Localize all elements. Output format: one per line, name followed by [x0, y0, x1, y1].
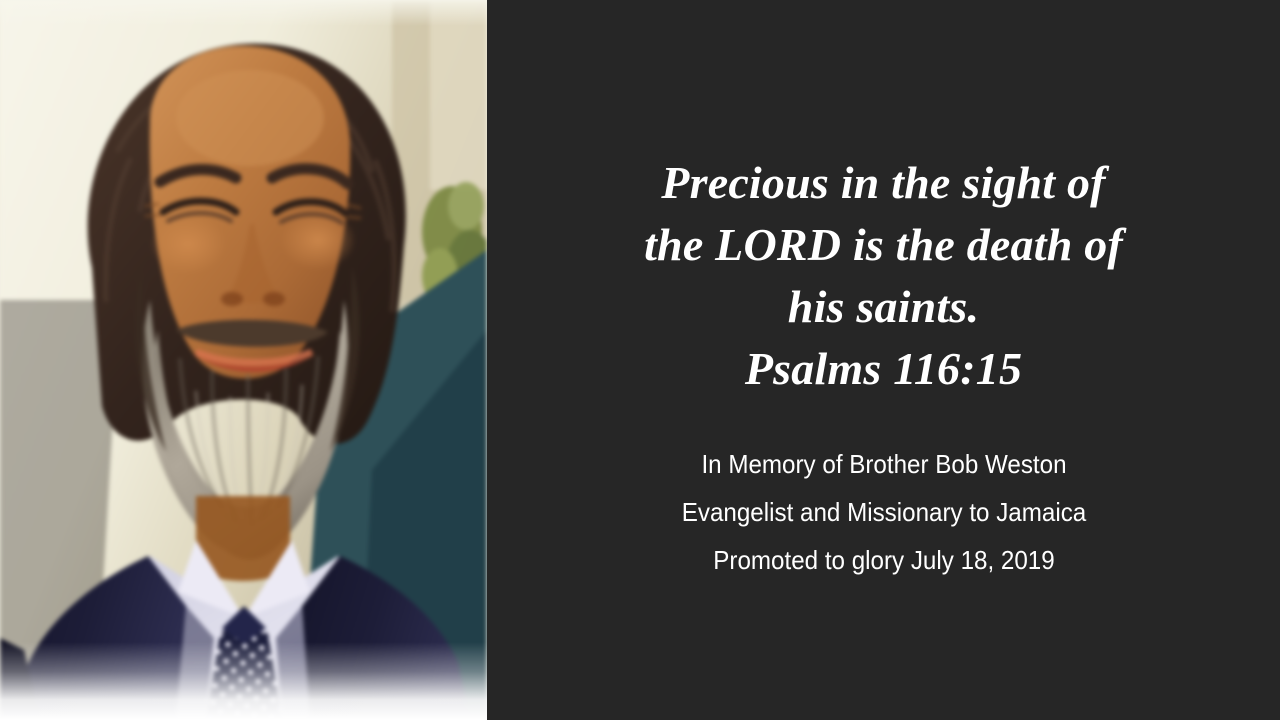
- scripture-reference: Psalms 116:15: [564, 338, 1204, 400]
- scripture-line-1: Precious in the sight of: [564, 152, 1204, 214]
- portrait-photo: [0, 0, 487, 720]
- text-pane: Precious in the sight of the LORD is the…: [487, 0, 1280, 720]
- memorial-line-2: Evangelist and Missionary to Jamaica: [577, 488, 1191, 536]
- memorial-line-3: Promoted to glory July 18, 2019: [577, 536, 1191, 584]
- memorial-slide: Precious in the sight of the LORD is the…: [0, 0, 1280, 720]
- memorial-text: In Memory of Brother Bob Weston Evangeli…: [577, 400, 1191, 584]
- portrait-illustration: [0, 0, 487, 720]
- scripture-quote: Precious in the sight of the LORD is the…: [564, 152, 1204, 400]
- scripture-line-3: his saints.: [564, 276, 1204, 338]
- scripture-line-2: the LORD is the death of: [564, 214, 1204, 276]
- memorial-line-1: In Memory of Brother Bob Weston: [577, 440, 1191, 488]
